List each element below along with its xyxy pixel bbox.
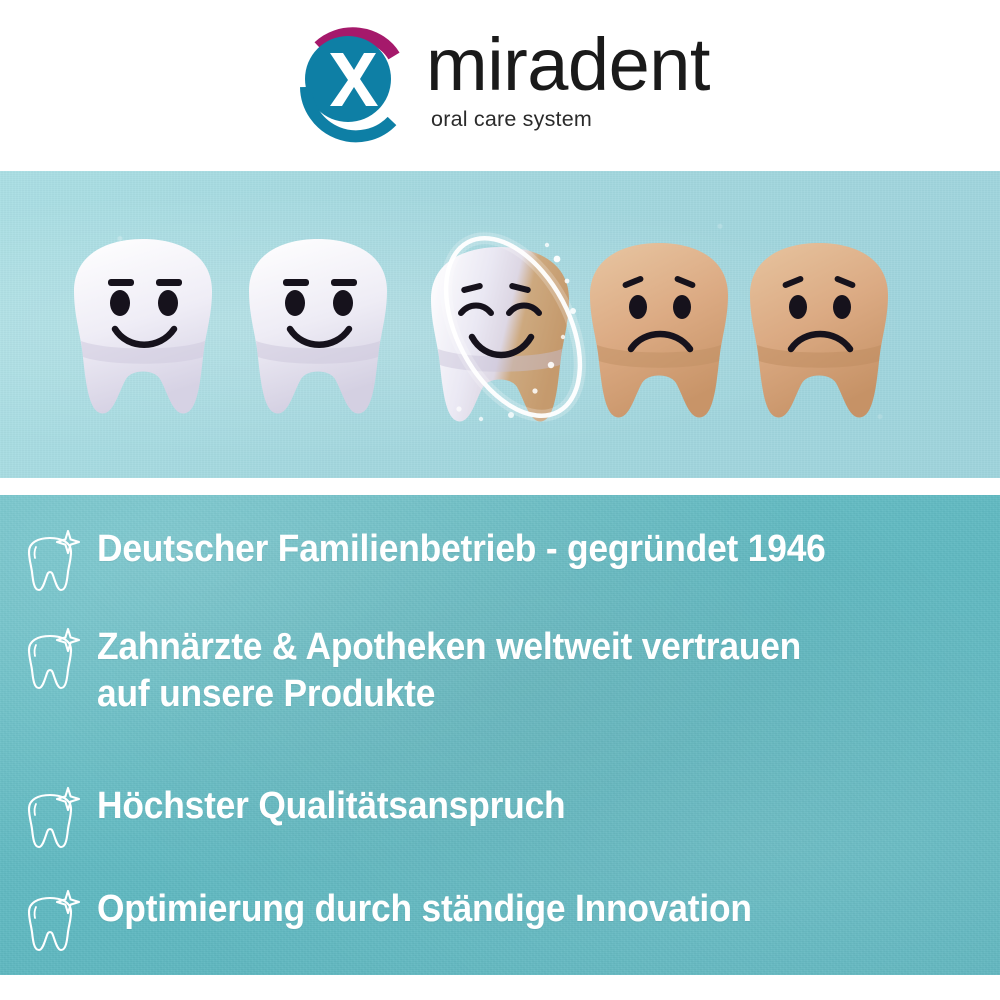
claim-text: Deutscher Familienbetrieb - gegründet 19… — [97, 526, 826, 573]
claim-item: Deutscher Familienbetrieb - gegründet 19… — [16, 526, 880, 594]
claim-text: Zahnärzte & Apotheken weltweit vertrauen… — [97, 624, 801, 718]
teeth-photo — [0, 171, 1000, 478]
photo-tooth-1-happy-white — [68, 233, 218, 423]
brand-wordmark: miradent oral care system — [426, 29, 710, 130]
photo-tooth-5-sad-stained — [744, 237, 894, 427]
brand-tagline: oral care system — [431, 109, 592, 131]
miradent-logo: miradent oral care system — [290, 17, 710, 143]
tooth-sparkle-icon — [16, 626, 84, 692]
brand-header: miradent oral care system — [0, 0, 1000, 171]
miradent-x-circle-logo-icon — [290, 17, 408, 143]
claim-item: Optimierung durch ständige Innovation — [16, 886, 801, 954]
photo-tooth-2-happy-white — [243, 233, 393, 423]
claim-item: Zahnärzte & Apotheken weltweit vertrauen… — [16, 624, 854, 718]
tooth-sparkle-icon — [16, 785, 84, 851]
product-info-banner: miradent oral care system — [0, 0, 1000, 1000]
claims-panel: Deutscher Familienbetrieb - gegründet 19… — [0, 495, 1000, 975]
tooth-sparkle-icon — [16, 888, 84, 954]
footer-spacer — [0, 975, 1000, 1000]
claim-item: Höchster Qualitätsanspruch — [16, 783, 601, 851]
claim-text: Optimierung durch ständige Innovation — [97, 886, 752, 933]
photo-tooth-4-sad-stained — [584, 237, 734, 427]
brand-name: miradent — [426, 29, 710, 102]
claim-text: Höchster Qualitätsanspruch — [97, 783, 565, 830]
tooth-sparkle-icon — [16, 528, 84, 594]
photo-tooth-3-whitening-transition — [415, 219, 605, 434]
